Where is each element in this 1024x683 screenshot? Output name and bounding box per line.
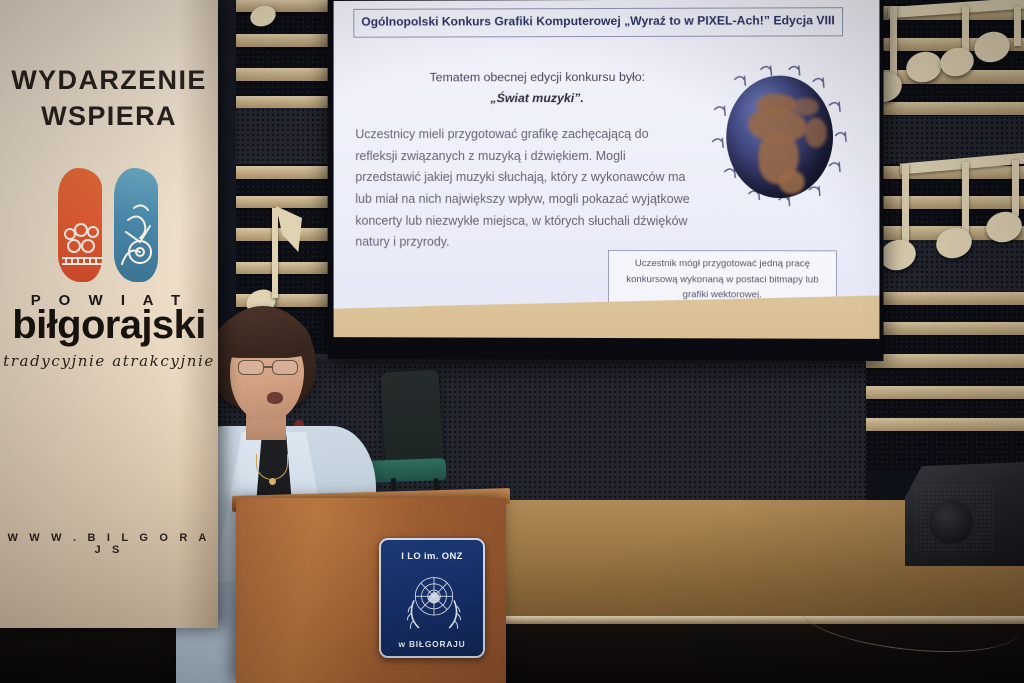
- speaker-woofer: [929, 500, 973, 544]
- wood-slat: [860, 322, 1024, 335]
- globe-with-musical-notes-icon: [704, 57, 855, 218]
- podium-plaque: I LO im. ONZ w BIŁGORAJU: [379, 538, 485, 658]
- slide-subtitle-theme: „Świat muzyki”.: [373, 89, 702, 109]
- slide-subtitle: Tematem obecnej edycji konkursu było: „Ś…: [373, 68, 702, 109]
- wood-slat: [860, 386, 1024, 399]
- wood-slat: [860, 354, 1024, 368]
- slide-title: Ogólnopolski Konkurs Grafiki Komputerowe…: [353, 7, 843, 37]
- wood-slat: [860, 196, 1024, 209]
- un-emblem-icon: [395, 562, 473, 640]
- projection-screen: Ogólnopolski Konkurs Grafiki Komputerowe…: [334, 0, 880, 339]
- wood-slat: [860, 418, 1024, 431]
- office-chair-back: [381, 370, 444, 469]
- banner-shadow-overlay: [178, 0, 218, 628]
- music-note-stem-icon: [890, 6, 897, 80]
- necklace-pendant: [269, 478, 276, 485]
- paint-splash-blue: [114, 168, 158, 282]
- projection-screen-frame: Ogólnopolski Konkurs Grafiki Komputerowe…: [328, 0, 884, 361]
- banner-logo-splashes: [48, 168, 176, 286]
- plaque-top-text: I LO im. ONZ: [381, 550, 483, 561]
- wood-slat: [860, 102, 1024, 115]
- photo-scene: Ogólnopolski Konkurs Grafiki Komputerowe…: [0, 0, 1024, 683]
- slide-subtitle-lead: Tematem obecnej edycji konkursu było:: [430, 70, 646, 84]
- wood-slat: [860, 292, 1024, 305]
- rollup-banner: WYDARZENIE WSPIERA: [0, 0, 218, 628]
- eyeglasses-icon: [238, 360, 302, 375]
- slide-body-text: Uczestnicy mieli przygotować grafikę zac…: [355, 124, 694, 254]
- presenter-mouth: [267, 392, 283, 404]
- plaque-bottom-text: w BIŁGORAJU: [381, 639, 483, 649]
- music-note-stem-icon: [1012, 160, 1019, 216]
- music-note-stem-icon: [962, 162, 969, 234]
- music-note-stem-icon: [272, 208, 278, 298]
- globe-graphic: [726, 76, 833, 199]
- paint-splash-orange: [58, 168, 102, 282]
- stage-monitor-speaker: [905, 462, 1024, 566]
- music-note-stem-icon: [1014, 6, 1021, 46]
- music-note-stem-icon: [902, 164, 909, 248]
- presenter-hair-fringe: [214, 310, 312, 358]
- presentation-slide: Ogólnopolski Konkurs Grafiki Komputerowe…: [334, 0, 880, 339]
- slide-bottom-band: [334, 291, 880, 339]
